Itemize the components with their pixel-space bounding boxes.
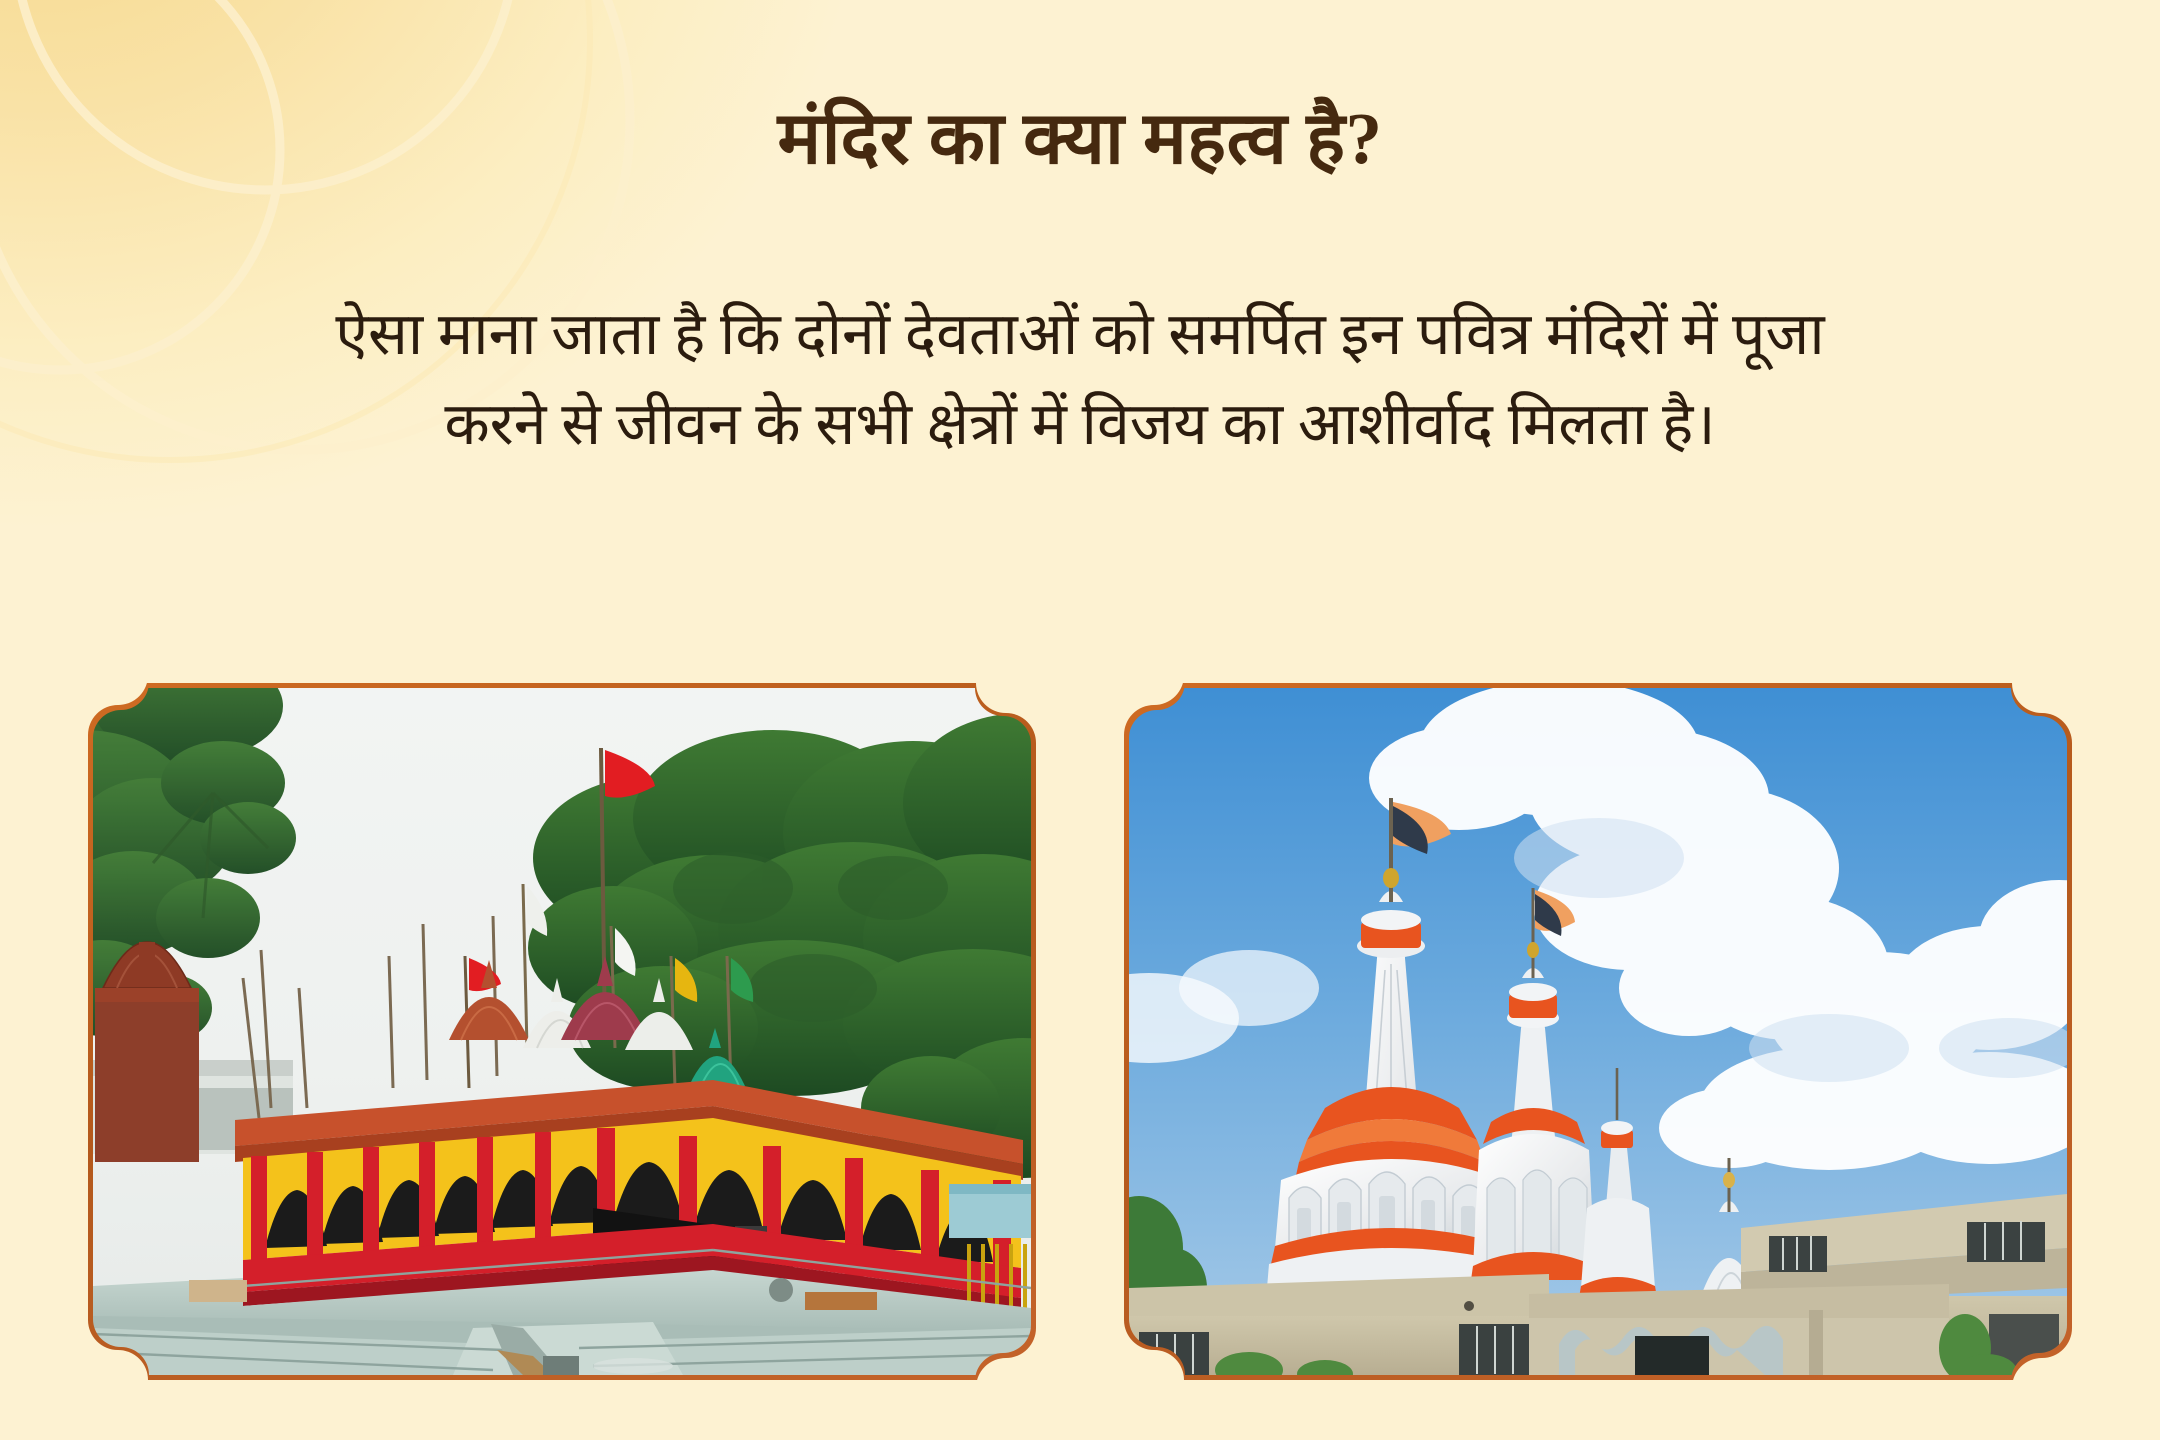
- body-paragraph: ऐसा माना जाता है कि दोनों देवताओं को समर…: [100, 290, 2060, 469]
- page-title: मंदिर का क्या महत्व है?: [0, 96, 2160, 182]
- body-line-1: ऐसा माना जाता है कि दोनों देवताओं को समर…: [100, 290, 2060, 380]
- building-left: [1129, 1274, 1549, 1375]
- temple-complex-illustration: [93, 688, 1031, 1375]
- entrance-porch: [1529, 1284, 1949, 1375]
- white-shikhara-temple-photo: [1129, 688, 2067, 1375]
- photo-gallery: [88, 683, 2072, 1380]
- temple-complex-photo: [93, 688, 1031, 1375]
- white-shikhara-illustration: [1129, 688, 2067, 1375]
- body-line-2: करने से जीवन के सभी क्षेत्रों में विजय क…: [100, 380, 2060, 470]
- photo-frame-left: [88, 683, 1036, 1380]
- left-small-dome: [95, 942, 199, 1162]
- photo-frame-right: [1124, 683, 2072, 1380]
